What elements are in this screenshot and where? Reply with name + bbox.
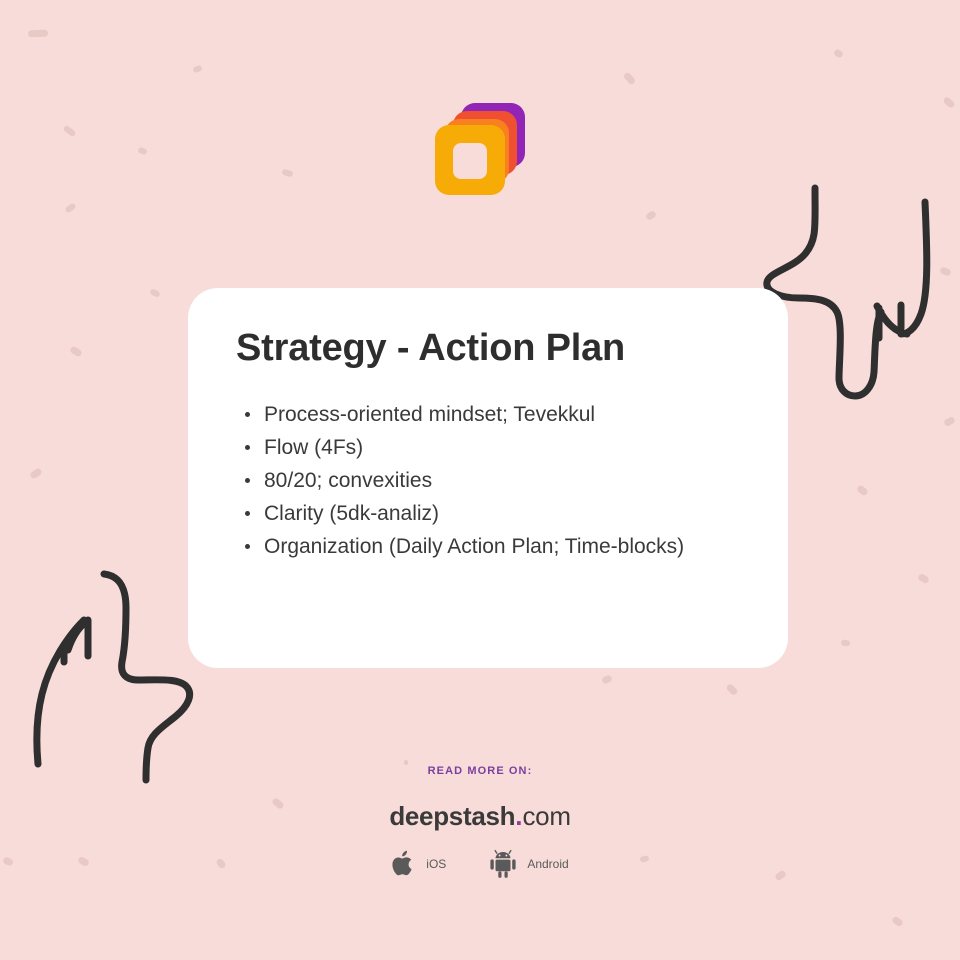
store-badges: iOS xyxy=(0,849,960,879)
brand-tld: com xyxy=(522,801,570,831)
confetti-speck xyxy=(149,288,161,298)
list-item-label: 80/20; convexities xyxy=(264,469,432,492)
confetti-speck xyxy=(623,71,637,85)
list-item-label: Clarity (5dk-analiz) xyxy=(264,502,439,525)
confetti-speck xyxy=(601,674,613,684)
page-title: Strategy - Action Plan xyxy=(236,326,744,372)
list-item-label: Organization (Daily Action Plan; Time-bl… xyxy=(264,535,684,558)
brand-name: deepstash xyxy=(389,801,515,831)
ios-store-badge[interactable]: iOS xyxy=(391,849,446,879)
confetti-speck xyxy=(943,416,956,427)
android-store-label: Android xyxy=(527,857,568,871)
confetti-speck xyxy=(939,266,952,277)
deepstash-logo xyxy=(435,103,525,195)
bullet-list: Process-oriented mindset; Tevekkul Flow … xyxy=(236,398,744,563)
confetti-speck xyxy=(192,65,203,74)
bullet-dot-icon xyxy=(245,478,250,483)
confetti-speck xyxy=(29,467,43,480)
bullet-dot-icon xyxy=(245,412,250,417)
confetti-speck xyxy=(841,639,851,646)
confetti-speck xyxy=(856,484,869,496)
confetti-speck xyxy=(645,210,657,221)
footer: READ MORE ON: deepstash.com iOS xyxy=(0,765,960,879)
confetti-speck xyxy=(891,916,904,928)
logo-container xyxy=(0,103,960,195)
confetti-speck xyxy=(725,683,738,696)
bullet-dot-icon xyxy=(245,544,250,549)
android-icon xyxy=(488,849,518,879)
confetti-speck xyxy=(69,345,83,358)
confetti-speck xyxy=(917,573,930,585)
list-item: 80/20; convexities xyxy=(236,464,744,497)
list-item: Process-oriented mindset; Tevekkul xyxy=(236,398,744,431)
bullet-dot-icon xyxy=(245,445,250,450)
list-item-label: Process-oriented mindset; Tevekkul xyxy=(264,403,595,426)
list-item: Clarity (5dk-analiz) xyxy=(236,497,744,530)
list-item-label: Flow (4Fs) xyxy=(264,436,363,459)
confetti-speck xyxy=(28,30,48,38)
pointing-hand-bottom-left-icon xyxy=(22,558,202,788)
confetti-speck xyxy=(833,48,844,59)
poster-canvas: Strategy - Action Plan Process-oriented … xyxy=(0,0,960,960)
apple-icon xyxy=(391,849,417,879)
bullet-dot-icon xyxy=(245,511,250,516)
android-store-badge[interactable]: Android xyxy=(488,849,568,879)
brand-wordmark[interactable]: deepstash.com xyxy=(0,803,960,829)
list-item: Organization (Daily Action Plan; Time-bl… xyxy=(236,530,744,563)
read-more-label: READ MORE ON: xyxy=(0,765,960,777)
ios-store-label: iOS xyxy=(426,857,446,871)
confetti-speck xyxy=(64,202,76,213)
logo-center-hole xyxy=(453,143,487,179)
list-item: Flow (4Fs) xyxy=(236,431,744,464)
content-card: Strategy - Action Plan Process-oriented … xyxy=(188,288,788,668)
